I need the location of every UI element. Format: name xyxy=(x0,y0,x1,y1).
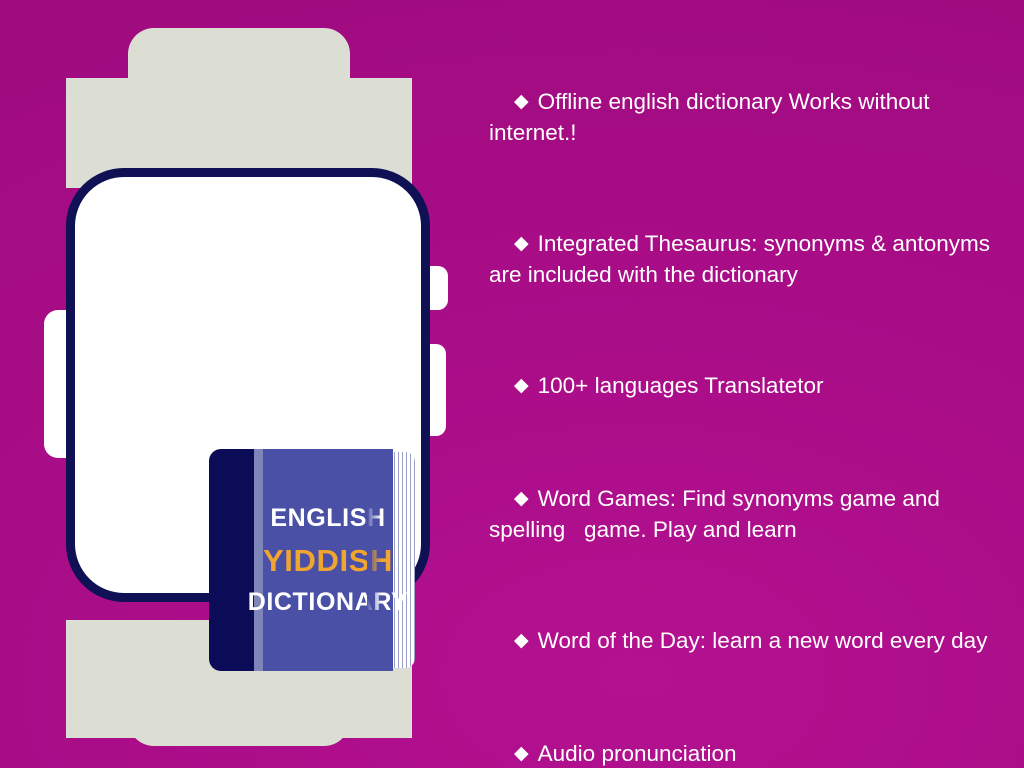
feature-text: Offline english dictionary Works without… xyxy=(489,89,936,145)
diamond-bullet-icon: ◆ xyxy=(514,91,529,112)
book-illustration: ENGLISH YIDDISH DICTIONARY xyxy=(209,449,415,671)
diamond-bullet-icon: ◆ xyxy=(514,630,529,651)
feature-text: 100+ languages Translatetor xyxy=(538,373,824,398)
feature-text: Audio pronunciation xyxy=(538,741,737,766)
smartwatch-mockup: ENGLISH YIDDISH DICTIONARY xyxy=(0,0,470,768)
book-title-line-yiddish: YIDDISH xyxy=(263,545,393,576)
diamond-bullet-icon: ◆ xyxy=(514,743,529,764)
book-spine xyxy=(209,449,254,671)
book-page-edges xyxy=(391,452,415,668)
feature-item: ◆Word of the Day: learn a new word every… xyxy=(489,597,1009,686)
feature-text: Word of the Day: learn a new word every … xyxy=(538,628,988,653)
feature-text: Integrated Thesaurus: synonyms & antonym… xyxy=(489,231,996,287)
watch-body-bezel: ENGLISH YIDDISH DICTIONARY xyxy=(66,168,430,602)
feature-item: ◆Integrated Thesaurus: synonyms & antony… xyxy=(489,200,1009,318)
book-cover: ENGLISH YIDDISH DICTIONARY xyxy=(263,449,393,671)
feature-item: ◆100+ languages Translatetor xyxy=(489,342,1009,431)
diamond-bullet-icon: ◆ xyxy=(514,375,529,396)
app-icon-english-yiddish-dictionary[interactable]: ENGLISH YIDDISH DICTIONARY xyxy=(209,449,415,671)
book-title-line-dictionary: DICTIONARY xyxy=(248,590,409,615)
book-title-line-english: ENGLISH xyxy=(270,506,385,531)
diamond-bullet-icon: ◆ xyxy=(514,488,529,509)
book-gutter xyxy=(254,449,263,671)
feature-text: Word Games: Find synonyms game and spell… xyxy=(489,486,946,542)
feature-item: ◆Audio pronunciation xyxy=(489,710,1009,768)
watch-band-top xyxy=(128,28,350,188)
diamond-bullet-icon: ◆ xyxy=(514,233,529,254)
feature-list: ◆Offline english dictionary Works withou… xyxy=(489,58,1009,768)
feature-item: ◆Word Games: Find synonyms game and spel… xyxy=(489,455,1009,573)
feature-item: ◆Offline english dictionary Works withou… xyxy=(489,58,1009,176)
